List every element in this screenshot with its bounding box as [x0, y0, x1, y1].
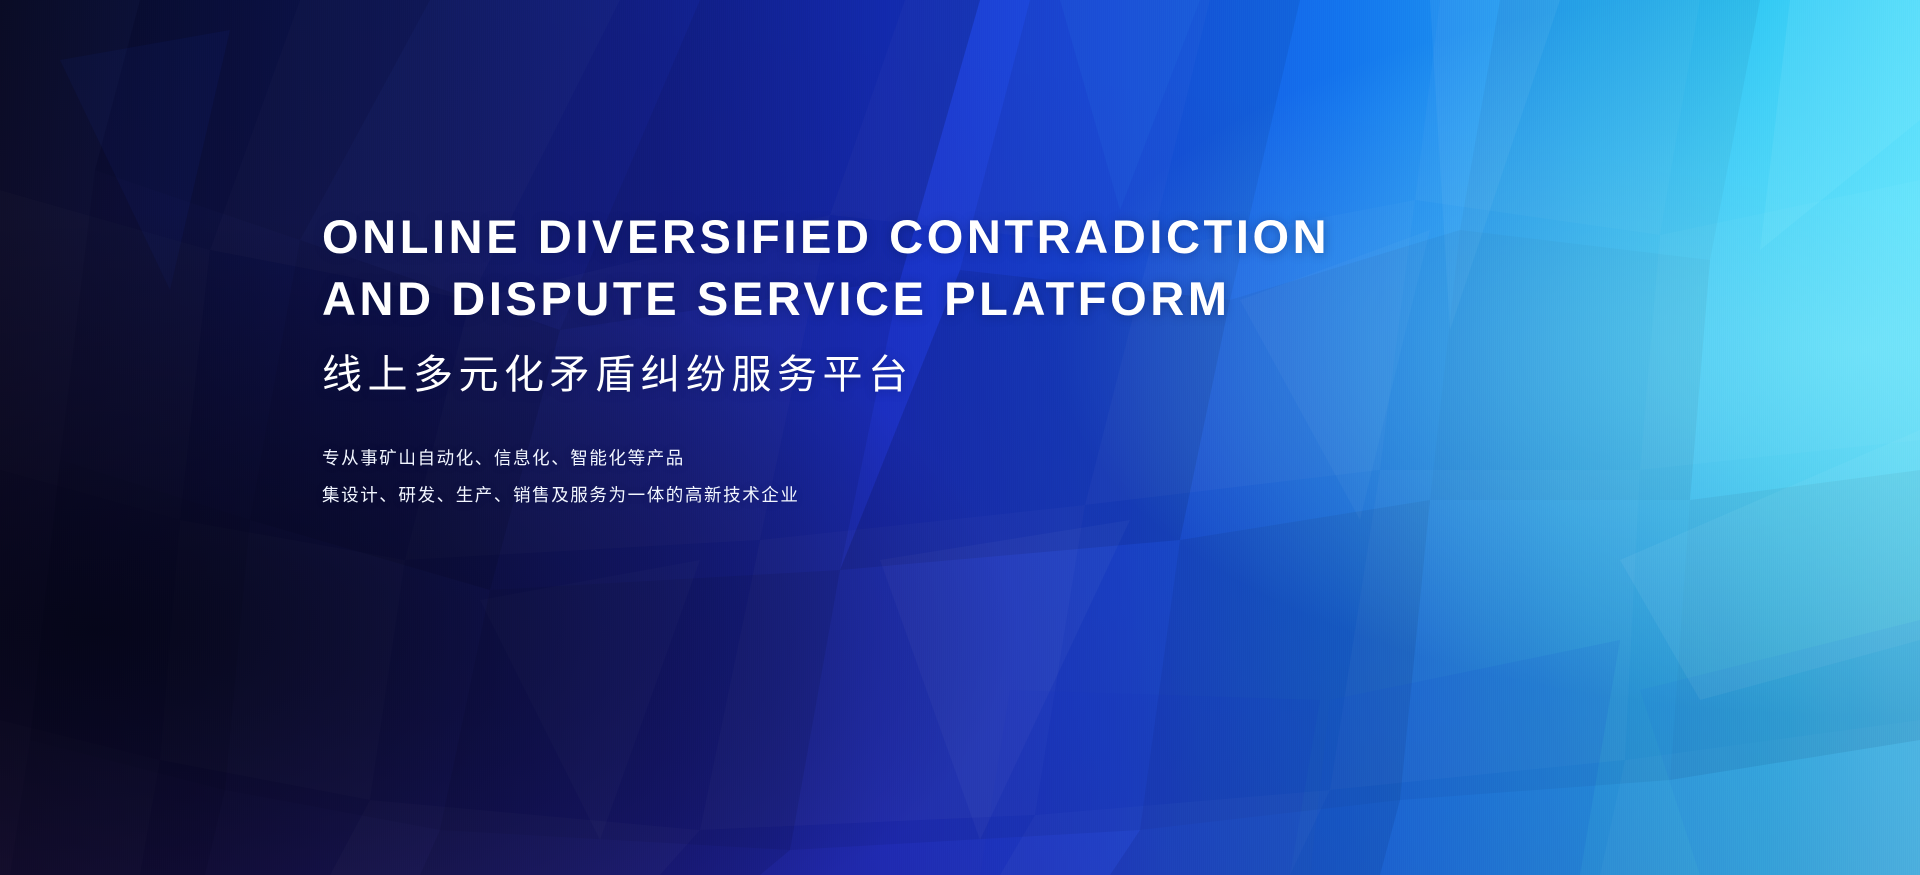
headline-chinese: 线上多元化矛盾纠纷服务平台: [322, 330, 1642, 402]
body-copy: 专从事矿山自动化、信息化、智能化等产品 集设计、研发、生产、销售及服务为一体的高…: [322, 402, 1642, 514]
headline-english-line-1: ONLINE DIVERSIFIED CONTRADICTION: [322, 206, 1642, 268]
body-copy-line-1: 专从事矿山自动化、信息化、智能化等产品: [322, 440, 1642, 477]
hero-banner: ONLINE DIVERSIFIED CONTRADICTION AND DIS…: [0, 0, 1920, 875]
body-copy-line-2: 集设计、研发、生产、销售及服务为一体的高新技术企业: [322, 477, 1642, 514]
hero-copy-block: ONLINE DIVERSIFIED CONTRADICTION AND DIS…: [322, 206, 1642, 514]
headline-english-line-2: AND DISPUTE SERVICE PLATFORM: [322, 268, 1642, 330]
